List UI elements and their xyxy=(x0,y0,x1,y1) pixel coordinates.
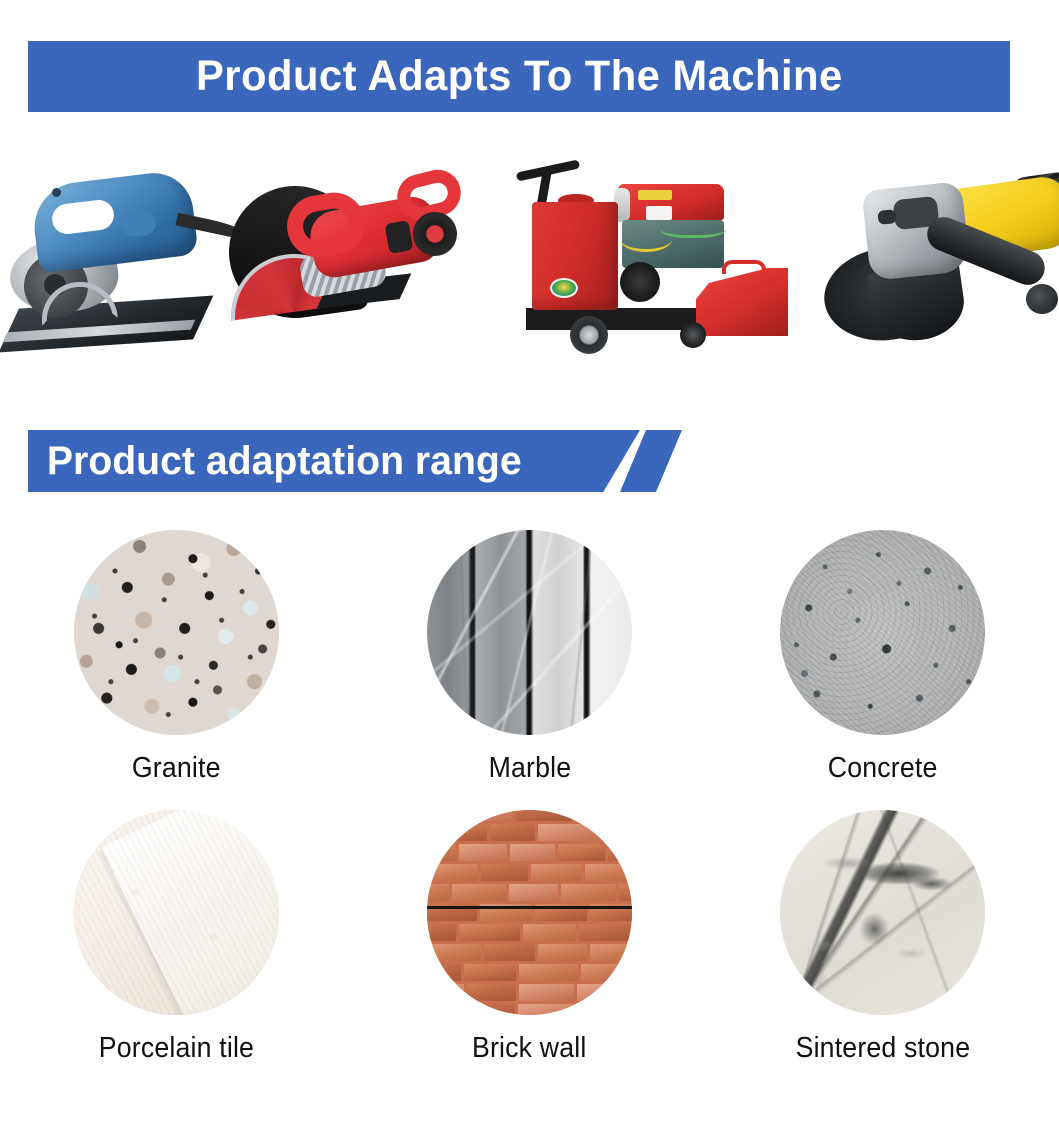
concrete-cut-off-saw-illustration xyxy=(225,150,485,390)
brick xyxy=(459,924,520,941)
machine-photo-concrete-cut-off-saw xyxy=(225,150,485,390)
brick xyxy=(523,924,576,941)
brick xyxy=(579,924,632,941)
cutter-power-button xyxy=(52,188,61,197)
saw-wheel-bracket xyxy=(385,220,414,254)
brick-course xyxy=(427,964,632,981)
machine-photo-marble-tile-cutter xyxy=(0,150,250,390)
floor-saw-front-wheel xyxy=(570,316,608,354)
brick xyxy=(457,1004,515,1015)
saw-guide-wheel xyxy=(413,212,457,256)
machine-photo-row xyxy=(0,150,1059,390)
brick-courses xyxy=(427,810,632,1015)
brick xyxy=(484,944,535,961)
material-grid: Granite Marble Concrete Porcelain tile B… xyxy=(0,530,1059,1090)
brick xyxy=(538,944,587,961)
brick xyxy=(427,844,456,861)
material-card-marble: Marble xyxy=(353,530,706,810)
brick-course xyxy=(427,824,632,841)
brick xyxy=(582,1004,632,1015)
brick-course xyxy=(427,844,632,861)
brick xyxy=(481,864,528,881)
brick xyxy=(577,984,632,1001)
brick xyxy=(427,864,430,881)
brick xyxy=(538,824,599,841)
material-label-marble: Marble xyxy=(488,752,571,785)
material-card-granite: Granite xyxy=(0,530,353,810)
material-swatch-porcelain-tile xyxy=(74,810,279,1015)
brick-course xyxy=(427,1004,632,1015)
brick xyxy=(427,884,449,901)
section-banner-title: Product adaptation range xyxy=(47,430,522,492)
floor-saw-engine-decal xyxy=(638,190,672,200)
brick-course xyxy=(427,984,632,1001)
brick xyxy=(619,884,632,901)
material-card-sintered-stone: Sintered stone xyxy=(706,810,1059,1090)
material-card-brick-wall: Brick wall xyxy=(353,810,706,1090)
brick-course xyxy=(427,810,632,821)
brick-seam-line xyxy=(427,906,632,909)
material-label-sintered-stone: Sintered stone xyxy=(795,1032,970,1065)
material-card-concrete: Concrete xyxy=(706,530,1059,810)
angle-grinder-illustration xyxy=(820,150,1059,390)
brick xyxy=(510,844,555,861)
brick xyxy=(585,864,632,881)
brick xyxy=(459,810,513,821)
brick xyxy=(516,810,572,821)
floor-saw-brand-badge xyxy=(550,278,578,298)
brick xyxy=(490,824,535,841)
floor-saw-pulley xyxy=(620,262,660,302)
top-banner-title: Product Adapts To The Machine xyxy=(196,55,843,98)
brick xyxy=(436,824,487,841)
brick xyxy=(608,844,632,861)
brick xyxy=(427,944,481,961)
top-banner: Product Adapts To The Machine xyxy=(28,41,1010,112)
floor-saw-hose xyxy=(660,216,726,238)
brick xyxy=(558,844,605,861)
brick xyxy=(519,984,574,1001)
brick-course xyxy=(427,864,632,881)
brick xyxy=(427,964,461,981)
brick xyxy=(518,1004,579,1015)
brick xyxy=(531,864,582,881)
brick xyxy=(581,964,629,981)
grinder-handle-end xyxy=(1026,284,1058,314)
floor-saw-rear-wheel xyxy=(680,322,706,348)
material-label-granite: Granite xyxy=(132,752,221,785)
brick xyxy=(427,810,456,821)
brick xyxy=(459,844,507,861)
brick xyxy=(452,884,506,901)
brick xyxy=(427,1004,454,1015)
material-card-porcelain-tile: Porcelain tile xyxy=(0,810,353,1090)
brick xyxy=(427,984,464,1001)
brick xyxy=(433,864,478,881)
brick xyxy=(561,884,616,901)
material-swatch-granite xyxy=(74,530,279,735)
machine-photo-angle-grinder xyxy=(820,150,1059,390)
brick xyxy=(602,824,632,841)
brick xyxy=(427,824,433,841)
section-banner: Product adaptation range xyxy=(28,430,688,492)
machine-photo-diesel-floor-saw xyxy=(510,150,810,390)
material-label-porcelain-tile: Porcelain tile xyxy=(99,1032,254,1065)
material-label-concrete: Concrete xyxy=(828,752,938,785)
material-swatch-marble xyxy=(427,530,632,735)
brick xyxy=(590,944,632,961)
brick xyxy=(575,810,632,821)
material-swatch-concrete xyxy=(780,530,985,735)
porcelain-surface-grain xyxy=(74,810,279,1015)
brick-course xyxy=(427,884,632,901)
marble-tile-cutter-illustration xyxy=(0,150,250,390)
material-swatch-sintered-stone xyxy=(780,810,985,1015)
brick-course xyxy=(427,944,632,961)
brick xyxy=(464,964,516,981)
floor-saw-blade-guard xyxy=(696,268,788,336)
material-swatch-brick-wall xyxy=(427,810,632,1015)
brick xyxy=(427,924,456,941)
material-label-brick-wall: Brick wall xyxy=(472,1032,587,1065)
brick xyxy=(467,984,516,1001)
brick xyxy=(519,964,578,981)
brick xyxy=(509,884,558,901)
brick-course xyxy=(427,924,632,941)
diesel-floor-saw-illustration xyxy=(510,150,810,390)
